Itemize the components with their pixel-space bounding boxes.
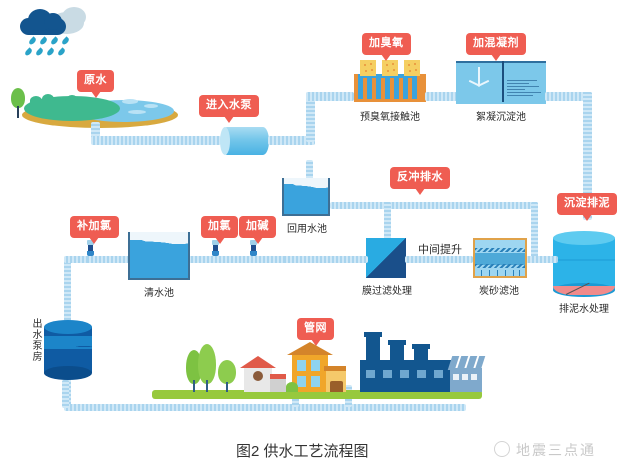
tag-add-coagulant: 加混凝剂: [466, 33, 526, 55]
pipe-ozone-to-floc: [425, 92, 457, 101]
label-intermediate-lift: 中间提升: [410, 241, 470, 257]
tag-intake-pump: 进入水泵: [199, 95, 259, 117]
pipe-riser-to-ozone: [306, 92, 354, 101]
reuse-water-pool: [282, 178, 330, 216]
label-sludge-treatment: 排泥水处理: [548, 300, 620, 315]
carbon-sand-filter: [473, 238, 527, 278]
label-ozone-contact-tank: 预臭氧接触池: [344, 108, 436, 123]
tag-raw-water: 原水: [77, 70, 114, 92]
clear-water-pool: [128, 232, 190, 280]
pipe-distribution-main: [64, 404, 466, 411]
rain-cloud-icon: [18, 6, 90, 62]
sludge-treatment-tank: [553, 231, 615, 297]
house-icon-church: [240, 352, 286, 392]
tag-add-alkali: 加碱: [239, 216, 276, 238]
tree-icon-small: [218, 360, 238, 392]
pipe-backwash-down-csf: [531, 202, 538, 258]
ozone-contact-tank: [354, 60, 426, 102]
membrane-filtration-unit: [366, 238, 406, 278]
tag-sludge-discharge: 沉淀排泥: [557, 193, 617, 215]
pipe-left-elbow-top: [64, 256, 88, 263]
tag-add-chlorine-supplement: 补加氯: [70, 216, 119, 238]
figure-caption: 图2 供水工艺流程图: [236, 440, 369, 461]
label-flocculation-tank: 絮凝沉淀池: [455, 108, 547, 123]
flocculation-sedimentation-tank: [456, 61, 546, 102]
pipe-backwash-main: [330, 202, 538, 209]
pipe-intermediate-lift: [405, 256, 473, 263]
label-outlet-pump-house: 出水泵房: [28, 318, 43, 380]
pipe-to-pump: [91, 136, 221, 145]
pipe-csf-to-sludge: [526, 256, 558, 263]
label-reuse-water-pool: 回用水池: [278, 220, 336, 235]
outlet-pump-house-tank: [44, 320, 92, 380]
tag-add-chlorine: 加氯: [201, 216, 238, 238]
water-supply-process-diagram: 原水 进入水泵 加臭氧 预臭氧接触池: [0, 0, 640, 475]
watermark-text: 地震三点通: [516, 440, 596, 460]
tag-pipe-network: 管网: [297, 318, 334, 340]
pipe-reuse-to-membrane: [282, 256, 368, 263]
intake-pump-icon: [221, 127, 269, 155]
tag-backwash-drain: 反冲排水: [390, 167, 450, 189]
tag-add-ozone: 加臭氧: [362, 33, 411, 55]
label-clear-water-pool: 清水池: [130, 284, 188, 299]
pipe-pumphouse-down: [62, 380, 69, 408]
label-membrane-filtration: 膜过滤处理: [358, 282, 416, 297]
house-icon-yellow: [288, 342, 346, 392]
label-carbon-sand-filter: 炭砂滤池: [470, 282, 528, 297]
factory-icon: [352, 332, 482, 392]
camera-icon: [494, 441, 510, 457]
